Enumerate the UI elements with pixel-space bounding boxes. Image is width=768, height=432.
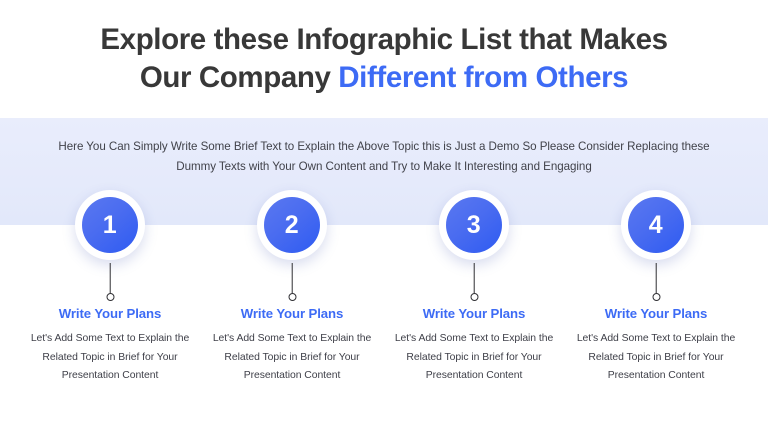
step-heading-1: Write Your Plans (19, 306, 201, 321)
step-circle-4[interactable]: 4 (621, 190, 691, 260)
infographic-slide: Explore these Infographic List that Make… (0, 0, 768, 432)
connector-dot-icon (106, 293, 114, 301)
step-item-3: 3 Write Your Plans Let's Add Some Text t… (383, 0, 565, 432)
step-circle-inner-4: 4 (628, 197, 684, 253)
connector-dot-icon (288, 293, 296, 301)
step-connector-1 (106, 263, 115, 301)
step-body-1: Let's Add Some Text to Explain the Relat… (27, 330, 193, 386)
connector-line-icon (655, 263, 657, 293)
step-circle-inner-1: 1 (82, 197, 138, 253)
connector-line-icon (291, 263, 293, 293)
step-item-2: 2 Write Your Plans Let's Add Some Text t… (201, 0, 383, 432)
step-number-4: 4 (649, 213, 663, 238)
step-body-2: Let's Add Some Text to Explain the Relat… (209, 330, 375, 386)
step-circle-inner-2: 2 (264, 197, 320, 253)
connector-dot-icon (470, 293, 478, 301)
step-circle-2[interactable]: 2 (257, 190, 327, 260)
connector-line-icon (109, 263, 111, 293)
step-circle-inner-3: 3 (446, 197, 502, 253)
step-number-2: 2 (285, 213, 299, 238)
step-circle-1[interactable]: 1 (75, 190, 145, 260)
connector-dot-icon (652, 293, 660, 301)
step-circle-3[interactable]: 3 (439, 190, 509, 260)
connector-line-icon (473, 263, 475, 293)
steps-container: 1 Write Your Plans Let's Add Some Text t… (0, 0, 768, 432)
step-connector-4 (652, 263, 661, 301)
step-item-4: 4 Write Your Plans Let's Add Some Text t… (565, 0, 747, 432)
step-heading-4: Write Your Plans (565, 306, 747, 321)
step-body-4: Let's Add Some Text to Explain the Relat… (573, 330, 739, 386)
step-number-3: 3 (467, 213, 481, 238)
step-heading-2: Write Your Plans (201, 306, 383, 321)
step-body-3: Let's Add Some Text to Explain the Relat… (391, 330, 557, 386)
step-heading-3: Write Your Plans (383, 306, 565, 321)
step-item-1: 1 Write Your Plans Let's Add Some Text t… (19, 0, 201, 432)
step-connector-3 (470, 263, 479, 301)
step-number-1: 1 (103, 213, 117, 238)
step-connector-2 (288, 263, 297, 301)
